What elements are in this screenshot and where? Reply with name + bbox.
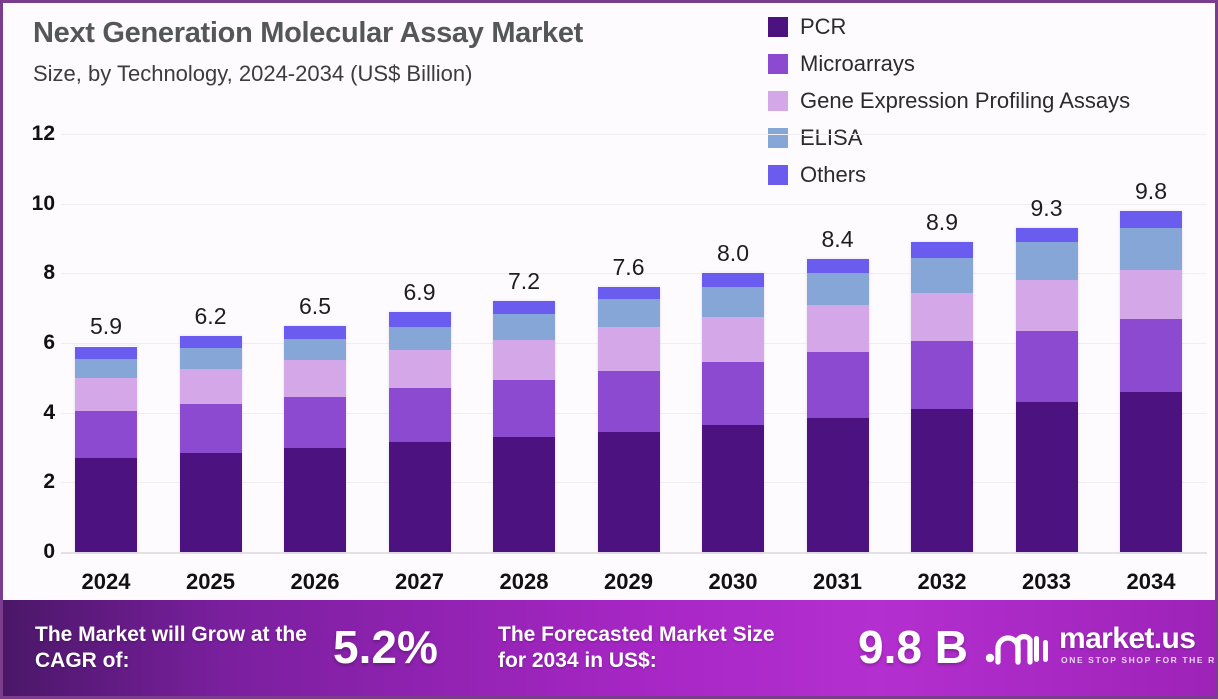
bar-segment-gene-expression-profiling-assays[interactable] (598, 327, 660, 371)
legend-swatch-icon (768, 91, 788, 111)
x-axis-tick-2032: 2032 (918, 569, 967, 595)
chart-subtitle: Size, by Technology, 2024-2034 (US$ Bill… (33, 61, 472, 87)
x-axis-tick-2027: 2027 (395, 569, 444, 595)
x-axis-tick-2026: 2026 (291, 569, 340, 595)
x-axis-tick-2030: 2030 (709, 569, 758, 595)
bar-segment-microarrays[interactable] (75, 411, 137, 458)
bar-segment-pcr[interactable] (1120, 392, 1182, 552)
stacked-bar[interactable] (911, 242, 973, 552)
bar-segment-gene-expression-profiling-assays[interactable] (807, 305, 869, 352)
x-axis-tick-2034: 2034 (1127, 569, 1176, 595)
bar-segment-pcr[interactable] (75, 458, 137, 552)
bar-segment-elisa[interactable] (702, 287, 764, 317)
bar-segment-others[interactable] (75, 347, 137, 359)
bar-segment-pcr[interactable] (702, 425, 764, 552)
bar-segment-pcr[interactable] (180, 453, 242, 552)
bar-total-label: 6.9 (404, 279, 436, 306)
market-us-logo[interactable]: market.us ONE STOP SHOP FOR THE REPORTS (985, 624, 1200, 674)
bar-segment-others[interactable] (493, 301, 555, 314)
bar-series-container: 5.920246.220256.520266.920277.220287.620… (3, 113, 1218, 603)
stacked-bar[interactable] (284, 326, 346, 552)
bar-segment-others[interactable] (1120, 211, 1182, 228)
bar-group-2032[interactable]: 8.9 (911, 242, 973, 552)
stacked-bar[interactable] (75, 346, 137, 552)
bar-segment-pcr[interactable] (807, 418, 869, 552)
footer-banner: The Market will Grow at the CAGR of: 5.2… (3, 600, 1215, 696)
bar-segment-pcr[interactable] (911, 409, 973, 552)
bar-segment-elisa[interactable] (493, 314, 555, 339)
bar-segment-microarrays[interactable] (180, 404, 242, 453)
forecast-label: The Forecasted Market Size for 2034 in U… (498, 622, 798, 674)
bar-segment-gene-expression-profiling-assays[interactable] (1016, 280, 1078, 331)
bar-segment-elisa[interactable] (1016, 242, 1078, 280)
market-us-logo-icon (985, 626, 1051, 666)
bar-segment-microarrays[interactable] (598, 371, 660, 432)
stacked-bar[interactable] (1016, 228, 1078, 552)
bar-segment-elisa[interactable] (75, 359, 137, 378)
cagr-label: The Market will Grow at the CAGR of: (35, 622, 325, 674)
chart-header: Next Generation Molecular Assay Market S… (3, 3, 763, 113)
bar-group-2031[interactable]: 8.4 (807, 259, 869, 552)
bar-segment-others[interactable] (284, 326, 346, 339)
bar-segment-gene-expression-profiling-assays[interactable] (389, 350, 451, 388)
bar-segment-pcr[interactable] (284, 448, 346, 552)
bar-total-label: 8.0 (717, 240, 749, 267)
legend-swatch-icon (768, 54, 788, 74)
bar-segment-microarrays[interactable] (702, 362, 764, 425)
legend-swatch-icon (768, 17, 788, 37)
bar-segment-elisa[interactable] (911, 258, 973, 293)
x-axis-tick-2028: 2028 (500, 569, 549, 595)
bar-segment-microarrays[interactable] (807, 352, 869, 418)
legend-item-label: Gene Expression Profiling Assays (800, 88, 1130, 114)
bar-total-label: 5.9 (90, 313, 122, 340)
legend-item-label: PCR (800, 14, 846, 40)
chart-title: Next Generation Molecular Assay Market (33, 17, 583, 50)
bar-segment-others[interactable] (598, 287, 660, 299)
bar-total-label: 8.4 (822, 226, 854, 253)
bar-segment-gene-expression-profiling-assays[interactable] (284, 360, 346, 397)
bar-segment-others[interactable] (180, 336, 242, 348)
bar-segment-gene-expression-profiling-assays[interactable] (702, 317, 764, 362)
chart-infographic: Next Generation Molecular Assay Market S… (0, 0, 1218, 699)
bar-segment-others[interactable] (911, 242, 973, 258)
bar-segment-gene-expression-profiling-assays[interactable] (75, 378, 137, 411)
bar-segment-elisa[interactable] (807, 273, 869, 304)
stacked-bar[interactable] (598, 287, 660, 552)
bar-segment-elisa[interactable] (1120, 228, 1182, 270)
bar-total-label: 7.2 (508, 268, 540, 295)
bar-segment-microarrays[interactable] (493, 380, 555, 437)
bar-segment-pcr[interactable] (389, 442, 451, 552)
legend-item-microarrays[interactable]: Microarrays (768, 45, 1218, 82)
bar-segment-microarrays[interactable] (1016, 331, 1078, 402)
bar-group-2025[interactable]: 6.2 (180, 336, 242, 552)
bar-group-2034[interactable]: 9.8 (1120, 211, 1182, 552)
x-axis-tick-2025: 2025 (186, 569, 235, 595)
x-axis-tick-2024: 2024 (82, 569, 131, 595)
bar-segment-elisa[interactable] (284, 339, 346, 361)
logo-tagline: ONE STOP SHOP FOR THE REPORTS (1061, 655, 1215, 665)
bar-total-label: 9.3 (1031, 195, 1063, 222)
bar-segment-microarrays[interactable] (389, 388, 451, 442)
bar-total-label: 9.8 (1135, 178, 1167, 205)
stacked-bar[interactable] (807, 259, 869, 552)
x-axis-tick-2033: 2033 (1022, 569, 1071, 595)
bar-group-2027[interactable]: 6.9 (389, 312, 451, 552)
bar-segment-elisa[interactable] (389, 327, 451, 350)
bar-group-2033[interactable]: 9.3 (1016, 228, 1078, 552)
forecast-value: 9.8 B (858, 620, 968, 674)
bar-segment-others[interactable] (389, 312, 451, 327)
bar-segment-elisa[interactable] (598, 299, 660, 327)
legend-item-label: Microarrays (800, 51, 915, 77)
bar-group-2029[interactable]: 7.6 (598, 287, 660, 552)
bar-total-label: 7.6 (613, 254, 645, 281)
bar-segment-pcr[interactable] (493, 437, 555, 552)
bar-group-2028[interactable]: 7.2 (493, 301, 555, 552)
bar-segment-gene-expression-profiling-assays[interactable] (493, 340, 555, 380)
x-axis-tick-2029: 2029 (604, 569, 653, 595)
stacked-bar[interactable] (389, 312, 451, 552)
bar-segment-elisa[interactable] (180, 348, 242, 369)
bar-segment-microarrays[interactable] (284, 397, 346, 448)
bar-segment-pcr[interactable] (1016, 402, 1078, 552)
bar-segment-microarrays[interactable] (911, 341, 973, 409)
bar-segment-pcr[interactable] (598, 432, 660, 552)
bar-segment-gene-expression-profiling-assays[interactable] (911, 293, 973, 342)
stacked-bar[interactable] (702, 273, 764, 552)
bar-segment-others[interactable] (1016, 228, 1078, 242)
bar-segment-others[interactable] (702, 273, 764, 287)
x-axis-tick-2031: 2031 (813, 569, 862, 595)
bar-segment-gene-expression-profiling-assays[interactable] (1120, 270, 1182, 319)
bar-segment-gene-expression-profiling-assays[interactable] (180, 369, 242, 404)
stacked-bar[interactable] (180, 336, 242, 552)
plot-area: 024681012 5.920246.220256.520266.920277.… (3, 113, 1218, 603)
bar-segment-others[interactable] (807, 259, 869, 273)
bar-group-2024[interactable]: 5.9 (75, 346, 137, 552)
stacked-bar[interactable] (1120, 211, 1182, 552)
stacked-bar[interactable] (493, 301, 555, 552)
bar-total-label: 6.5 (299, 293, 331, 320)
bar-total-label: 8.9 (926, 209, 958, 236)
bar-group-2026[interactable]: 6.5 (284, 326, 346, 552)
bar-group-2030[interactable]: 8.0 (702, 273, 764, 552)
bar-segment-microarrays[interactable] (1120, 319, 1182, 392)
cagr-value: 5.2% (333, 620, 438, 674)
logo-wordmark: market.us (1059, 622, 1195, 656)
bar-total-label: 6.2 (195, 303, 227, 330)
legend-item-pcr[interactable]: PCR (768, 8, 1218, 45)
